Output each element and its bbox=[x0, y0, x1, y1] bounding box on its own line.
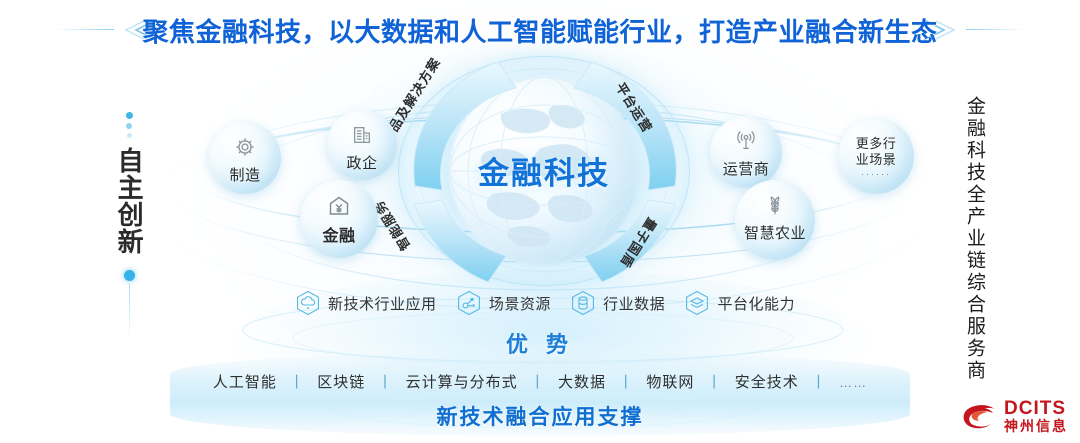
tech-separator: 丨 bbox=[530, 374, 546, 391]
company-logo: DCITS 神州信息 bbox=[961, 399, 1068, 436]
left-dots-decoration bbox=[106, 112, 152, 138]
tech-item[interactable]: 大数据 bbox=[558, 374, 606, 391]
tech-separator: 丨 bbox=[811, 374, 827, 391]
bubble-label: 金融 bbox=[300, 222, 378, 246]
tech-item[interactable]: 安全技术 bbox=[735, 374, 799, 391]
tech-separator: 丨 bbox=[289, 374, 305, 391]
industry-bubble-smart-agriculture[interactable]: 智慧农业 bbox=[735, 180, 815, 260]
bubble-label: 政企 bbox=[327, 152, 397, 173]
logo-text: DCITS 神州信息 bbox=[1004, 399, 1068, 436]
left-accent-dot bbox=[124, 270, 135, 281]
molecule-hex-icon bbox=[456, 290, 482, 316]
dcits-swirl-icon bbox=[961, 403, 997, 431]
advantage-item-new-tech-application[interactable]: 新技术行业应用 bbox=[295, 290, 437, 316]
logo-text-cn: 神州信息 bbox=[1004, 418, 1068, 436]
tab-arc-smart-service bbox=[415, 200, 506, 282]
advantage-label: 平台化能力 bbox=[717, 293, 795, 314]
bubble-sub-ellipsis: ······ bbox=[838, 169, 914, 179]
bubble-label: 制造 bbox=[209, 164, 281, 185]
gear-icon bbox=[209, 136, 281, 162]
tech-separator: 丨 bbox=[377, 374, 393, 391]
advantages-row: 新技术行业应用 场景资源 行业数据 bbox=[295, 286, 795, 320]
advantage-item-industry-data[interactable]: 行业数据 bbox=[570, 290, 665, 316]
industry-bubble-more-scenarios[interactable]: 更多行业场景 ······ bbox=[838, 118, 914, 194]
government-building-icon bbox=[327, 124, 397, 150]
bubble-label: 更多行业场景 bbox=[838, 136, 914, 168]
tech-separator: 丨 bbox=[707, 374, 723, 391]
advantage-label: 新技术行业应用 bbox=[328, 293, 437, 314]
technology-list: 人工智能 丨 区块链 丨 云计算与分布式 丨 大数据 丨 物联网 丨 安全技术 … bbox=[0, 371, 1080, 392]
cloud-hex-icon bbox=[295, 290, 321, 316]
infographic-canvas: 聚焦金融科技，以大数据和人工智能赋能行业，打造产业融合新生态 自主创新 金融科技… bbox=[0, 0, 1080, 443]
tech-ellipsis: …… bbox=[839, 375, 867, 390]
center-tabs: 产品及解决方案 平台运营 智能服务 量子国盾 bbox=[370, 44, 720, 296]
advantage-label: 行业数据 bbox=[603, 293, 665, 314]
left-label-text: 自主创新 bbox=[114, 147, 144, 255]
advantage-label: 场景资源 bbox=[489, 293, 551, 314]
bubble-label: 智慧农业 bbox=[735, 222, 815, 243]
bubble-label: 运营商 bbox=[710, 158, 782, 179]
industry-bubble-manufacturing[interactable]: 制造 bbox=[209, 122, 281, 194]
tech-item[interactable]: 人工智能 bbox=[213, 374, 277, 391]
advantage-item-platform-capability[interactable]: 平台化能力 bbox=[684, 290, 795, 316]
database-hex-icon bbox=[570, 290, 596, 316]
tech-separator: 丨 bbox=[618, 374, 634, 391]
tech-item[interactable]: 物联网 bbox=[646, 374, 694, 391]
left-vertical-label: 自主创新 bbox=[106, 112, 152, 340]
wheat-icon bbox=[735, 194, 815, 220]
logo-text-en: DCITS bbox=[1004, 399, 1068, 418]
bank-yen-icon bbox=[300, 194, 378, 220]
industry-bubble-carrier[interactable]: 运营商 bbox=[710, 116, 782, 188]
industry-bubble-finance[interactable]: 金融 bbox=[300, 180, 378, 258]
technology-support-title: 新技术融合应用支撑 bbox=[0, 401, 1080, 431]
signal-tower-icon bbox=[710, 130, 782, 156]
layers-hex-icon bbox=[684, 290, 710, 316]
tech-item[interactable]: 区块链 bbox=[317, 374, 365, 391]
advantage-item-scenario-resources[interactable]: 场景资源 bbox=[456, 290, 551, 316]
industry-bubble-government-enterprise[interactable]: 政企 bbox=[327, 110, 397, 180]
tech-item[interactable]: 云计算与分布式 bbox=[406, 374, 518, 391]
